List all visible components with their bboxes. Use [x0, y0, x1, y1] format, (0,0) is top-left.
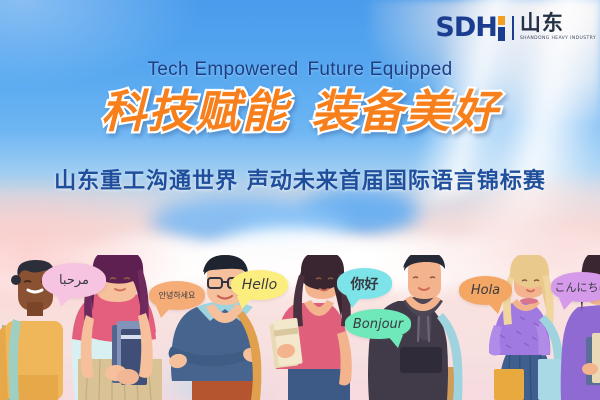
tagline-part-right: Future Equipped [308, 59, 453, 80]
logo-wordmark: SDH [435, 14, 505, 41]
logo-wordmark-text: SDH [435, 14, 496, 41]
speech-bubble-spanish: Hola [459, 276, 512, 305]
tagline-part-left: Tech Empowered [148, 59, 299, 80]
logo-chinese-block: 山东 SHANDONG HEAVY INDUSTRY [520, 13, 596, 41]
event-subtitle: 山东重工沟通世界 声动未来首届国际语言锦标赛 [0, 163, 600, 195]
poster-banner: SDH 山东 SHANDONG HEAVY INDUSTRY Tech Empo… [0, 0, 600, 400]
bubble-tail-french [387, 335, 403, 348]
speech-bubble-english: Hello [231, 270, 288, 300]
main-headline: 科技赋能装备美好 [0, 89, 600, 134]
bubble-text-korean: 안녕하세요 [159, 290, 196, 301]
logo-chinese-name: 山东 [520, 13, 596, 34]
person-6 [489, 255, 566, 400]
headline-part-left: 科技赋能 [101, 85, 289, 138]
bubble-text-spanish: Hola [471, 283, 500, 298]
english-tagline: Tech EmpoweredFuture Equipped [0, 59, 600, 81]
bubble-tail-korean [156, 306, 172, 318]
bubble-text-arabic: مرحبا [59, 273, 89, 288]
logo-pinyin: SHANDONG HEAVY INDUSTRY [520, 36, 596, 41]
bubble-text-french: Bonjour [353, 317, 403, 332]
bubble-tail-arabic [54, 293, 73, 308]
speech-bubble-japanese: こんにちは [551, 272, 600, 302]
speech-bubble-arabic: مرحبا [42, 263, 106, 298]
logo-divider [512, 16, 514, 40]
speech-bubble-chinese: 你好 [337, 268, 392, 299]
bubble-tail-chinese [346, 295, 363, 308]
bubble-tail-japanese [559, 298, 575, 310]
logo-i-letter-icon [497, 14, 506, 41]
speech-bubble-french: Bonjour [345, 309, 411, 339]
bubble-tail-spanish [486, 301, 503, 314]
bubble-text-english: Hello [242, 277, 278, 293]
bubble-tail-english [237, 296, 254, 309]
bubble-text-japanese: こんにちは [555, 279, 600, 295]
headline-part-right: 装备美好 [311, 85, 499, 138]
speech-bubble-korean: 안녕하세요 [149, 281, 205, 310]
sdhi-logo: SDH 山东 SHANDONG HEAVY INDUSTRY [435, 11, 596, 41]
bubble-text-chinese: 你好 [351, 274, 379, 294]
